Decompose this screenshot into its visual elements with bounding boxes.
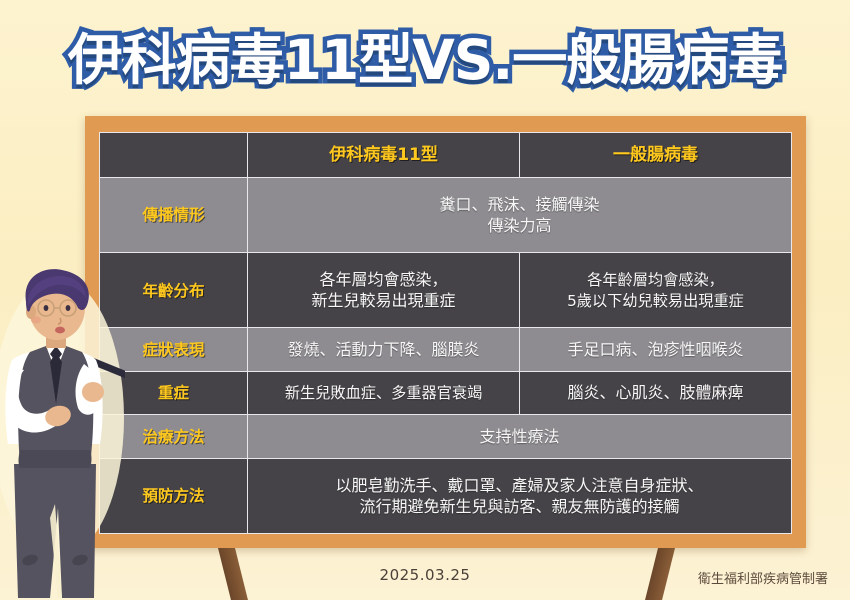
table-row: 治療方法 支持性療法: [100, 415, 792, 458]
row-value-age-b: 各年齡層均會感染，5歲以下幼兒較易出現重症: [567, 271, 744, 310]
table-row: 傳播情形 糞口、飛沫、接觸傳染傳染力高: [100, 177, 792, 252]
row-value-symptoms-a: 發燒、活動力下降、腦膜炎: [288, 340, 480, 359]
row-label-transmission: 傳播情形: [143, 206, 205, 224]
row-label-treatment: 治療方法: [143, 428, 205, 446]
presenter-illustration: [0, 268, 125, 600]
table-row: 重症 新生兒敗血症、多重器官衰竭 腦炎、心肌炎、肢體麻痺: [100, 371, 792, 414]
row-value-transmission: 糞口、飛沫、接觸傳染傳染力高: [440, 195, 600, 235]
header-col-b: 一般腸病毒: [613, 145, 698, 165]
row-value-prevention: 以肥皂勤洗手、戴口罩、產婦及家人注意自身症狀、流行期避免新生兒與訪客、親友無防護…: [336, 476, 704, 516]
table-row: 年齡分布 各年層均會感染，新生兒較易出現重症 各年齡層均會感染，5歲以下幼兒較易…: [100, 253, 792, 328]
comparison-table: 伊科病毒11型 一般腸病毒 傳播情形 糞口、飛沫、接觸傳染傳染力高 年齡分布 各…: [99, 132, 792, 534]
table-header-row: 伊科病毒11型 一般腸病毒: [100, 133, 792, 178]
row-value-age-a: 各年層均會感染，新生兒較易出現重症: [312, 270, 456, 310]
comparison-board: 伊科病毒11型 一般腸病毒 傳播情形 糞口、飛沫、接觸傳染傳染力高 年齡分布 各…: [85, 116, 806, 548]
header-col-a: 伊科病毒11型: [329, 145, 438, 165]
footer-organization: 衛生福利部疾病管制署: [698, 568, 828, 587]
row-value-treatment: 支持性療法: [480, 427, 560, 446]
table-row: 預防方法 以肥皂勤洗手、戴口罩、產婦及家人注意自身症狀、流行期避免新生兒與訪客、…: [100, 458, 792, 533]
row-label-prevention: 預防方法: [143, 487, 205, 505]
header-cell-empty: [100, 133, 248, 178]
table-row: 症狀表現 發燒、活動力下降、腦膜炎 手足口病、泡疹性咽喉炎: [100, 328, 792, 371]
row-label-symptoms: 症狀表現: [143, 341, 205, 359]
row-value-symptoms-b: 手足口病、泡疹性咽喉炎: [568, 340, 744, 359]
page-title: 伊科病毒11型VS.一般腸病毒: [68, 15, 783, 95]
row-label-severe: 重症: [158, 384, 189, 402]
page-title-bar: 伊科病毒11型VS.一般腸病毒: [0, 14, 850, 96]
row-value-severe-a: 新生兒敗血症、多重器官衰竭: [285, 384, 482, 402]
row-label-age: 年齡分布: [143, 282, 205, 300]
row-value-severe-b: 腦炎、心肌炎、肢體麻痺: [568, 383, 744, 402]
